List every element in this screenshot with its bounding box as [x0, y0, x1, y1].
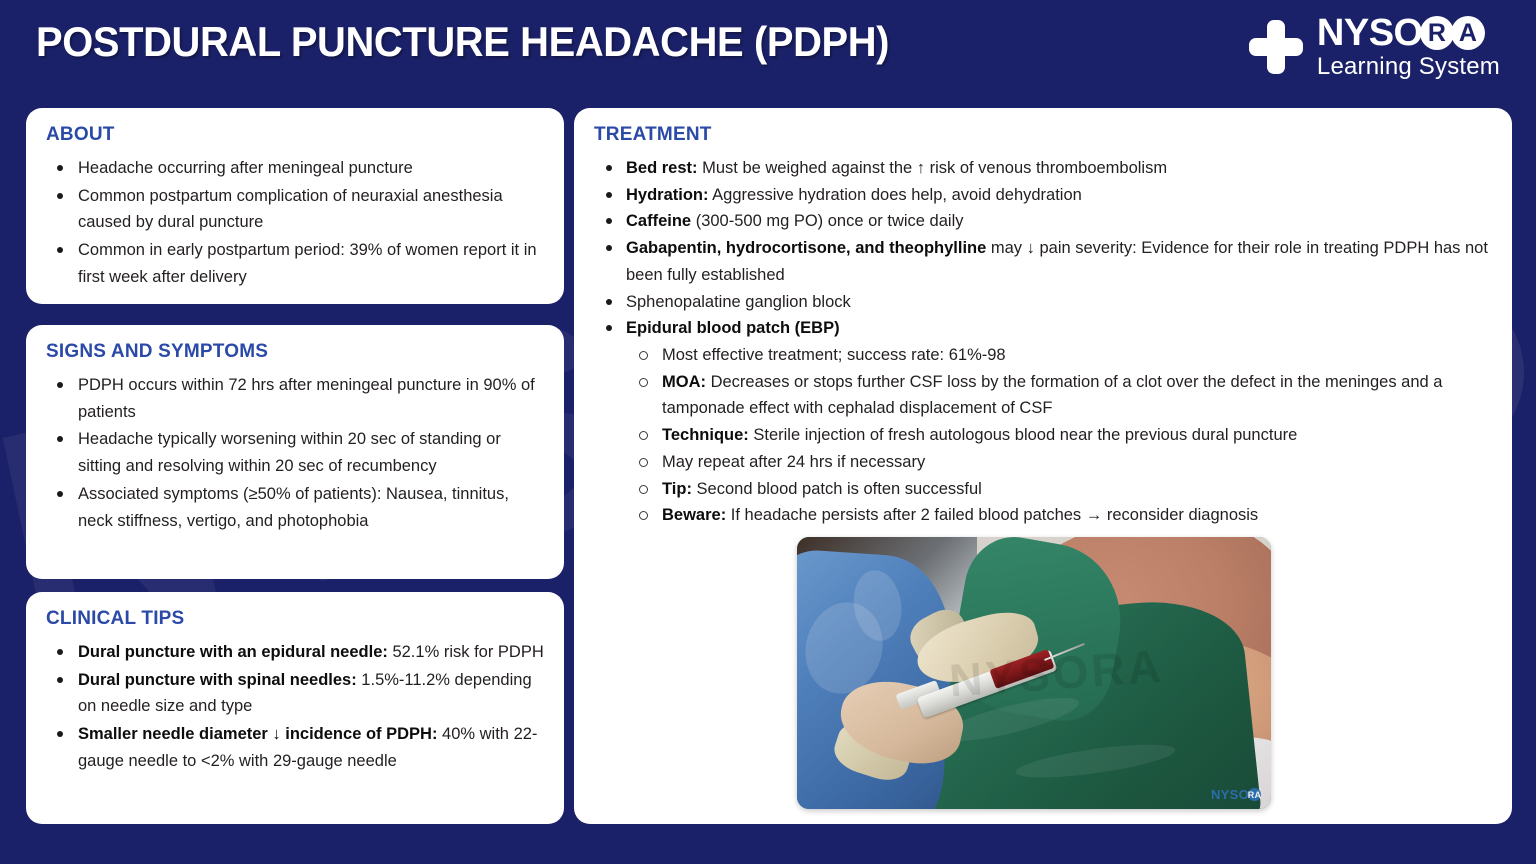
page-title: POSTDURAL PUNCTURE HEADACHE (PDPH): [36, 18, 889, 66]
list-item: Dural puncture with spinal needles: 1.5%…: [46, 667, 546, 720]
sub-list-item: MOA: Decreases or stops further CSF loss…: [626, 369, 1494, 422]
list-item: Bed rest: Must be weighed against the ↑ …: [594, 155, 1494, 182]
card-about-title: ABOUT: [46, 124, 546, 146]
logo-brand-text: NYSO: [1317, 14, 1423, 52]
card-tips-title: CLINICAL TIPS: [46, 608, 546, 630]
logo-brand-name: NYSO R A: [1317, 14, 1500, 52]
card-tips-list: Dural puncture with an epidural needle: …: [46, 639, 546, 775]
list-item: Common in early postpartum period: 39% o…: [46, 237, 546, 290]
card-about-list: Headache occurring after meningeal punct…: [46, 155, 546, 291]
card-signs-list: PDPH occurs within 72 hrs after meningea…: [46, 372, 546, 534]
list-item: Common postpartum complication of neurax…: [46, 183, 546, 236]
list-item: Sphenopalatine ganglion block: [594, 289, 1494, 316]
nysora-logo: NYSO R A Learning System: [1249, 14, 1500, 79]
list-item: Caffeine (300-500 mg PO) once or twice d…: [594, 208, 1494, 235]
photo-nysora-watermark: NYSO RA: [1211, 787, 1261, 802]
logo-subtitle: Learning System: [1317, 55, 1500, 79]
logo-circle-r: R: [1420, 16, 1454, 50]
logo-circle-a: A: [1451, 16, 1485, 50]
list-item: Hydration: Aggressive hydration does hel…: [594, 182, 1494, 209]
logo-wordmark: NYSO R A Learning System: [1317, 14, 1500, 79]
medical-cross-icon: [1249, 20, 1303, 74]
list-item: Headache occurring after meningeal punct…: [46, 155, 546, 182]
card-treatment-sublist: Most effective treatment; success rate: …: [626, 342, 1494, 529]
list-item: Headache typically worsening within 20 s…: [46, 426, 546, 479]
card-signs-and-symptoms: SIGNS AND SYMPTOMS PDPH occurs within 72…: [26, 325, 564, 579]
sub-list-item: May repeat after 24 hrs if necessary: [626, 449, 1494, 476]
list-item: Dural puncture with an epidural needle: …: [46, 639, 546, 666]
list-item: PDPH occurs within 72 hrs after meningea…: [46, 372, 546, 425]
card-treatment-title: TREATMENT: [594, 124, 1494, 146]
photo-watermark-text: NYSO: [1211, 787, 1249, 802]
sub-list-item: Most effective treatment; success rate: …: [626, 342, 1494, 369]
page-header: POSTDURAL PUNCTURE HEADACHE (PDPH) NYSO …: [0, 0, 1536, 100]
list-item: Gabapentin, hydrocortisone, and theophyl…: [594, 235, 1494, 288]
card-treatment: TREATMENT Bed rest: Must be weighed agai…: [574, 108, 1512, 824]
list-item: Smaller needle diameter ↓ incidence of P…: [46, 721, 546, 774]
sub-list-item: Tip: Second blood patch is often success…: [626, 476, 1494, 503]
card-about: ABOUT Headache occurring after meningeal…: [26, 108, 564, 304]
epidural-blood-patch-photo: NYSORA NYSO RA: [797, 537, 1271, 809]
photo-watermark-circle: RA: [1248, 788, 1261, 801]
sub-list-item: Technique: Sterile injection of fresh au…: [626, 422, 1494, 449]
photo-canvas: NYSORA NYSO RA: [797, 537, 1271, 809]
list-item: Epidural blood patch (EBP) Most effectiv…: [594, 315, 1494, 529]
card-treatment-list: Bed rest: Must be weighed against the ↑ …: [594, 155, 1494, 529]
card-clinical-tips: CLINICAL TIPS Dural puncture with an epi…: [26, 592, 564, 824]
card-signs-title: SIGNS AND SYMPTOMS: [46, 341, 546, 363]
sub-list-item: Beware: If headache persists after 2 fai…: [626, 502, 1494, 529]
list-item: Associated symptoms (≥50% of patients): …: [46, 481, 546, 534]
